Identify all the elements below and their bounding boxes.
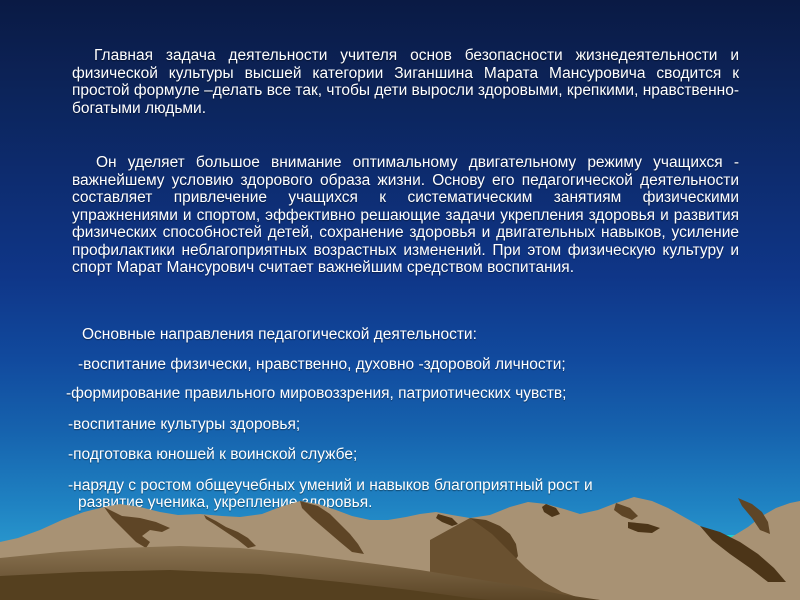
paragraph-attention: Он уделяет большое внимание оптимальному… — [72, 154, 739, 277]
presentation-slide: Главная задача деятельности учителя осно… — [0, 0, 800, 600]
landscape-svg — [0, 490, 800, 600]
list-heading: Основные направления педагогической деят… — [82, 326, 800, 344]
mountain-landscape-graphic — [0, 490, 800, 600]
list-item: -воспитание физически, нравственно, духо… — [78, 356, 800, 374]
paragraph-main-task: Главная задача деятельности учителя осно… — [72, 47, 739, 117]
paragraph-attention-rest: учащихся - важнейшему условию здорового … — [72, 154, 739, 276]
paragraph-main-task-lead: Главная задача деятельности учителя осно… — [72, 47, 576, 64]
list-item: -подготовка юношей к воинской службе; — [68, 446, 800, 464]
paragraph-attention-lead: Он уделяет большое внимание оптимальному… — [72, 154, 653, 171]
list-item: -воспитание культуры здоровья; — [68, 416, 800, 434]
list-item: -формирование правильного мировоззрения,… — [66, 385, 800, 403]
